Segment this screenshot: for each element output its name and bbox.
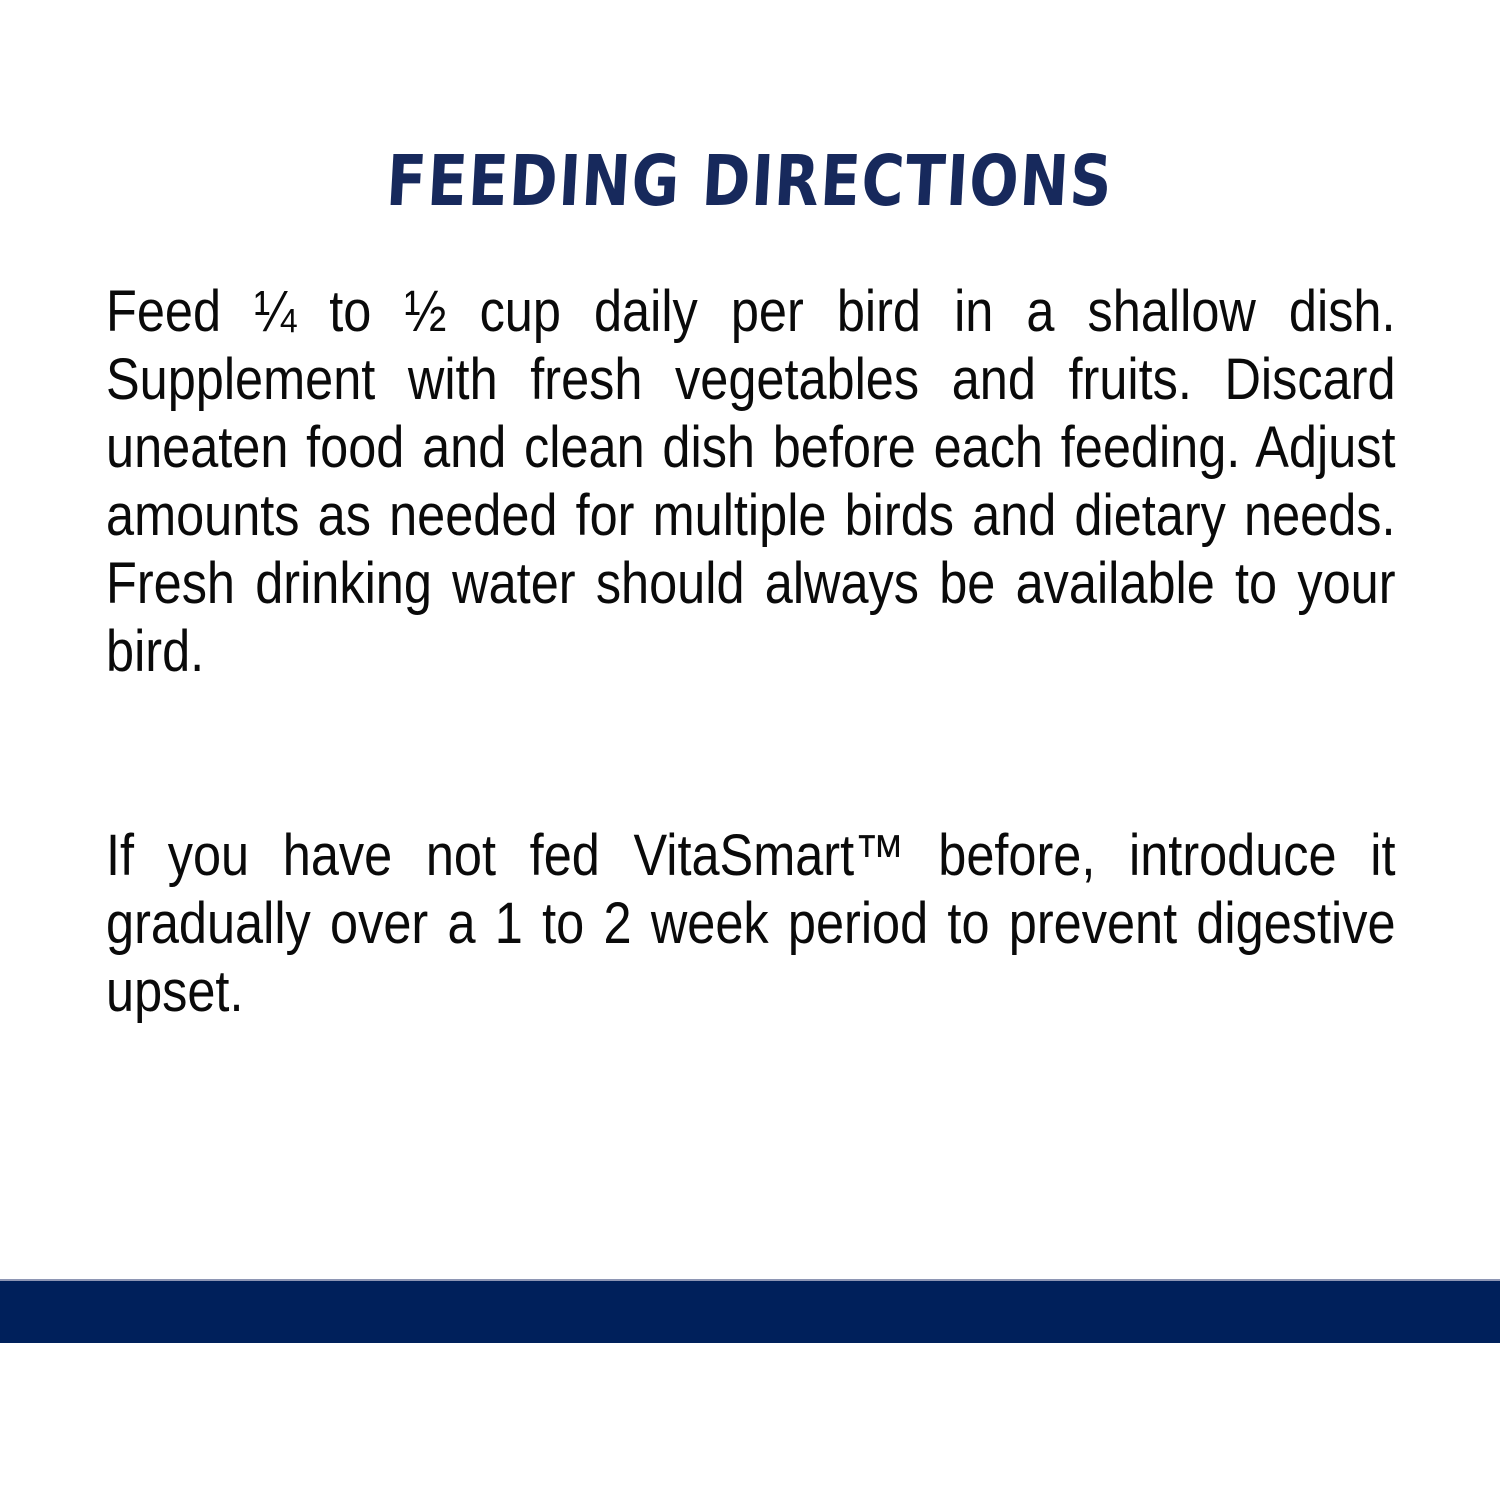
page-title-container: FEEDING DIRECTIONS <box>0 146 1500 216</box>
feeding-directions-body: Feed ¼ to ½ cup daily per bird in a shal… <box>106 278 1396 1026</box>
feeding-directions-panel: FEEDING DIRECTIONS Feed ¼ to ½ cup daily… <box>0 0 1500 1500</box>
feeding-instructions-paragraph: Feed ¼ to ½ cup daily per bird in a shal… <box>106 278 1396 754</box>
page-title: FEEDING DIRECTIONS <box>385 146 1115 216</box>
transition-instructions-paragraph: If you have not fed VitaSmart™ before, i… <box>106 822 1396 1026</box>
footer-navy-band <box>0 1281 1500 1343</box>
